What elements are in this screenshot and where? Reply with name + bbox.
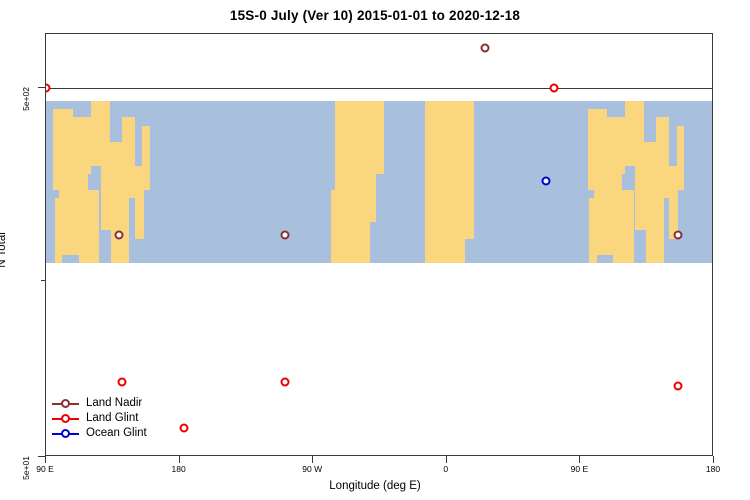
landmass-shape — [331, 190, 340, 263]
x-axis-tick-label: 180 — [706, 464, 720, 474]
x-axis-tick — [312, 456, 313, 463]
landmass-shape — [613, 190, 634, 263]
data-point-land_nadir — [280, 230, 289, 239]
reference-line — [46, 88, 712, 89]
chart-figure: 15S-0 July (Ver 10) 2015-01-01 to 2020-1… — [0, 0, 750, 500]
landmass-shape — [111, 190, 129, 263]
x-axis-tick-label: 90 W — [302, 464, 322, 474]
landmass-shape — [677, 126, 684, 191]
landmass-shape — [589, 198, 596, 263]
landmass-shape — [607, 117, 625, 174]
y-axis-tick — [38, 87, 45, 88]
landmass-shape — [79, 190, 100, 263]
landmass-shape — [646, 190, 664, 263]
legend-marker — [61, 414, 70, 423]
y-axis-tick-label: 5e+02 — [21, 87, 31, 111]
legend-label: Land Glint — [86, 411, 138, 426]
x-axis-tick — [45, 456, 46, 463]
landmass-shape — [73, 117, 91, 174]
data-point-land_nadir — [481, 44, 490, 53]
data-point-land_nadir — [114, 230, 123, 239]
x-axis-tick — [179, 456, 180, 463]
data-point-land_nadir — [674, 230, 683, 239]
y-axis-tick-label: 5e+01 — [21, 456, 31, 480]
data-point-land_glint — [549, 83, 558, 92]
data-point-land_glint — [117, 377, 126, 386]
legend-label: Land Nadir — [86, 396, 142, 411]
legend-label: Ocean Glint — [86, 426, 147, 441]
x-axis-tick-label: 90 E — [571, 464, 589, 474]
data-point-land_glint — [280, 377, 289, 386]
landmass-shape — [55, 198, 62, 263]
plot-area — [45, 33, 713, 456]
landmass-shape — [462, 101, 474, 238]
x-axis-title: Longitude (deg E) — [0, 480, 750, 492]
x-axis-tick — [446, 456, 447, 463]
landmass-shape — [122, 117, 135, 198]
landmass-shape — [142, 126, 149, 191]
data-point-ocean_glint — [542, 176, 551, 185]
data-point-land_glint — [674, 381, 683, 390]
x-axis-tick — [579, 456, 580, 463]
landmass-shape — [371, 101, 384, 174]
landmass-shape — [656, 117, 669, 198]
x-axis-tick-label: 180 — [172, 464, 186, 474]
y-axis-tick — [38, 456, 45, 457]
chart-title: 15S-0 July (Ver 10) 2015-01-01 to 2020-1… — [0, 8, 750, 23]
legend-marker — [61, 399, 70, 408]
data-point-land_glint — [180, 423, 189, 432]
data-point-land_glint — [45, 83, 51, 92]
landmass-shape — [358, 214, 370, 262]
x-axis-tick-label: 90 E — [36, 464, 54, 474]
legend-marker — [61, 429, 70, 438]
y-axis-title: N Total — [0, 232, 8, 268]
x-axis-tick-label: 0 — [443, 464, 448, 474]
x-axis-tick — [713, 456, 714, 463]
